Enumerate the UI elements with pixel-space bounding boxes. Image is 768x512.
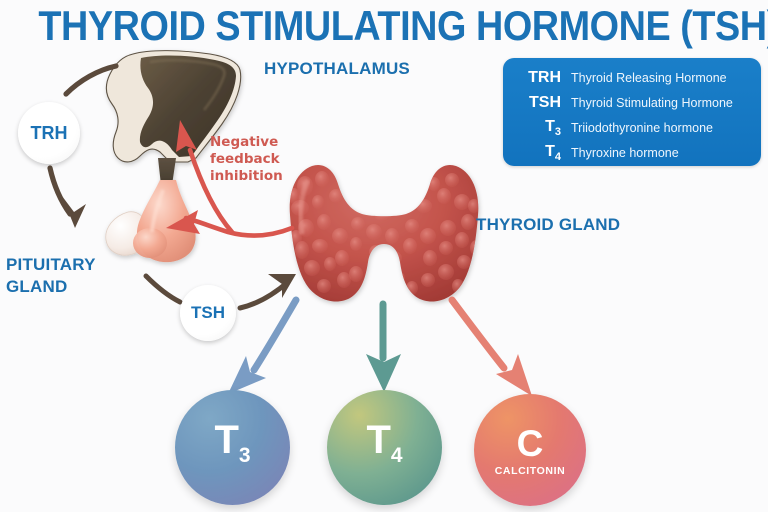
label-pituitary-gland: PITUITARY GLAND [6,254,96,298]
legend-definition-trh: Thyroid Releasing Hormone [571,71,727,85]
legend-item-trh: TRH Thyroid Releasing Hormone [503,66,761,90]
arrow-tsh-to-thyroid [240,274,296,308]
legend-abbr-t4: T4 [503,143,571,163]
arrow-trh-to-pituitary [50,168,86,228]
arrow-thyroid-to-t3 [228,300,296,394]
legend-item-t3: T3 Triiodothyronine hormone [503,116,761,140]
arrow-pituitary-to-tsh [146,276,180,302]
thyroid-gland-illustration [288,165,482,302]
output-circle-calcitonin: C CALCITONIN [474,394,586,506]
diagram-canvas: THYROID STIMULATING HORMONE (TSH) [0,0,768,512]
output-circle-t4-symbol: T4 [366,420,402,476]
legend-box: TRH Thyroid Releasing Hormone TSH Thyroi… [503,58,761,166]
output-circle-calcitonin-caption: CALCITONIN [495,465,566,477]
arrow-thyroid-to-t4 [366,304,401,392]
hormone-bubble-tsh-label: TSH [191,303,225,323]
legend-abbr-trh: TRH [503,69,571,87]
legend-definition-tsh: Thyroid Stimulating Hormone [571,96,733,110]
output-circle-t4: T4 [327,390,442,505]
label-hypothalamus: HYPOTHALAMUS [264,58,410,80]
hormone-bubble-tsh: TSH [180,285,236,341]
output-circle-t3: T3 [175,390,290,505]
output-circle-t3-symbol: T3 [214,420,250,476]
legend-abbr-t3: T3 [503,118,571,138]
arrow-thyroid-to-calcitonin [452,300,532,396]
legend-abbr-tsh: TSH [503,94,571,112]
legend-item-tsh: TSH Thyroid Stimulating Hormone [503,91,761,115]
hormone-bubble-trh-label: TRH [31,123,68,144]
label-negative-feedback-inhibition: Negative feedback inhibition [210,134,283,185]
legend-definition-t3: Triiodothyronine hormone [571,121,713,135]
output-circle-calcitonin-symbol: C [517,424,544,464]
label-thyroid-gland: THYROID GLAND [476,214,620,236]
legend-definition-t4: Thyroxine hormone [571,146,679,160]
hormone-bubble-trh: TRH [18,102,80,164]
legend-item-t4: T4 Thyroxine hormone [503,141,761,165]
